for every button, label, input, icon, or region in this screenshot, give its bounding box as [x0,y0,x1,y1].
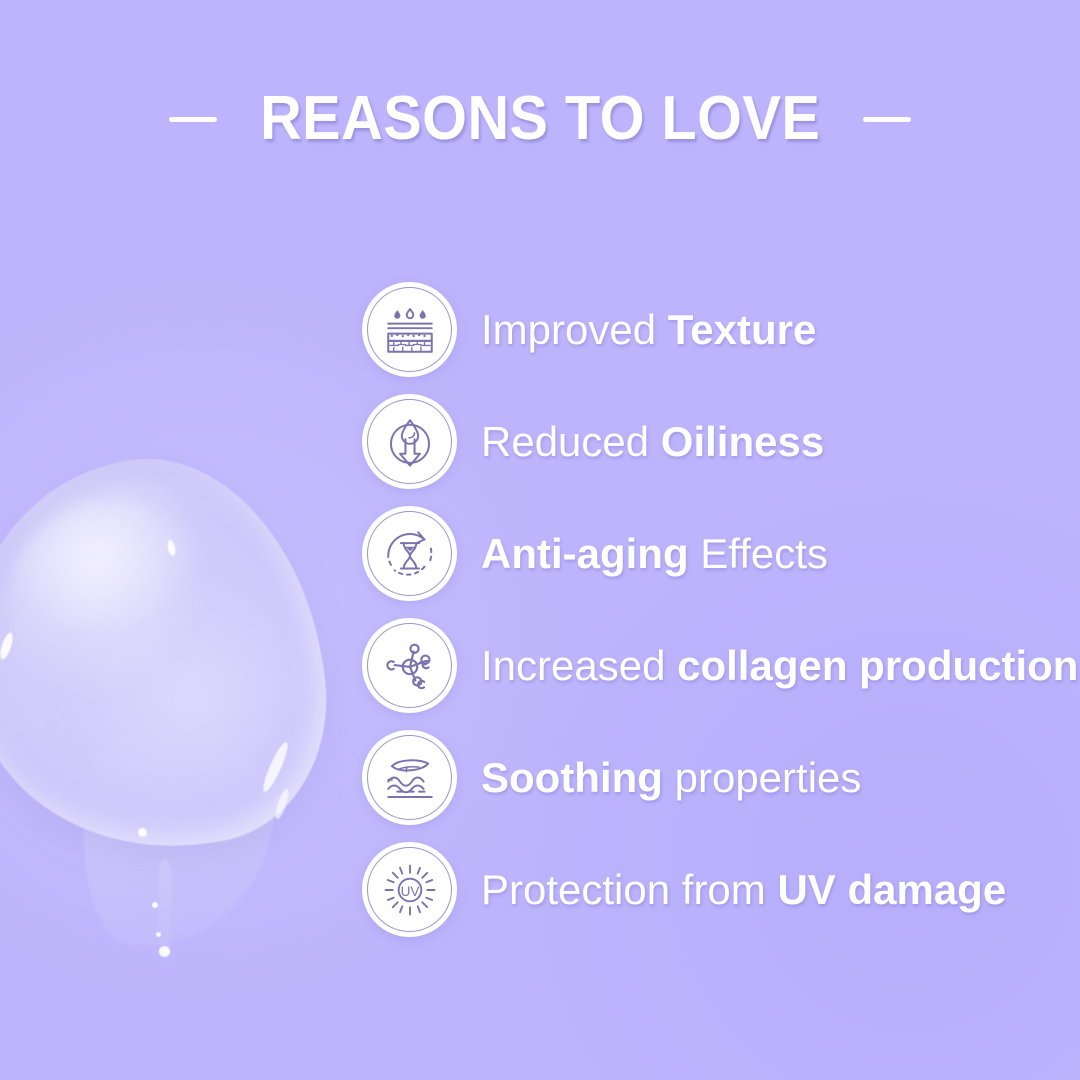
list-item: Improved Texture [362,282,1062,377]
list-item: Increased collagen production [362,618,1062,713]
feature-highlight: Anti-aging [481,530,689,577]
gel-highlight [159,946,170,957]
list-item-label: Soothing properties [481,757,861,799]
feature-suffix: Effects [689,530,828,577]
list-item: Reduced Oiliness [362,394,1062,489]
feature-highlight: UV damage [777,866,1006,913]
feature-highlight: Soothing [481,754,663,801]
page-title-row: REASONS TO LOVE [0,88,1080,150]
gel-blob-illustration [0,440,390,940]
feature-list: Improved Texture Reduced Oiliness [362,282,1062,937]
list-item-label: Increased collagen production [481,645,1078,687]
page-title: REASONS TO LOVE [260,88,820,150]
gel-highlight [152,902,158,908]
gel-highlight [0,631,15,660]
list-item: UV Protection from UV damage [362,842,1062,937]
list-item-label: Anti-aging Effects [481,533,828,575]
feature-highlight: Texture [668,306,817,353]
feature-prefix: Increased [481,642,677,689]
list-item: Soothing properties [362,730,1062,825]
feature-highlight: collagen production [677,642,1078,689]
gel-highlight [273,788,290,821]
feature-prefix: Improved [481,306,668,353]
uv-sun-icon: UV [362,842,457,937]
svg-text:UV: UV [400,883,419,898]
gel-blob-body [0,438,345,873]
gel-highlight [166,539,176,556]
feature-prefix: Protection from [481,866,777,913]
leaf-skin-waves-icon [362,730,457,825]
feature-highlight: Oiliness [661,418,824,465]
gel-blob-sheen [8,500,218,710]
list-item: Anti-aging Effects [362,506,1062,601]
gel-highlight [156,932,161,937]
list-item-label: Reduced Oiliness [481,421,824,463]
title-right-dash-icon [863,117,911,122]
molecule-icon [362,618,457,713]
title-left-dash-icon [169,117,217,122]
list-item-label: Improved Texture [481,309,816,351]
gel-blob-tail [61,705,288,964]
feature-suffix: properties [663,754,861,801]
promo-card: REASONS TO LOVE Improved Tex [0,0,1080,1080]
droplet-down-arrow-icon [362,394,457,489]
hourglass-rotate-icon [362,506,457,601]
feature-prefix: Reduced [481,418,661,465]
gel-highlight [259,740,291,794]
list-item-label: Protection from UV damage [481,869,1006,911]
skin-layers-droplets-icon [362,282,457,377]
gel-blob-drip [158,860,172,980]
gel-highlight [138,828,147,837]
